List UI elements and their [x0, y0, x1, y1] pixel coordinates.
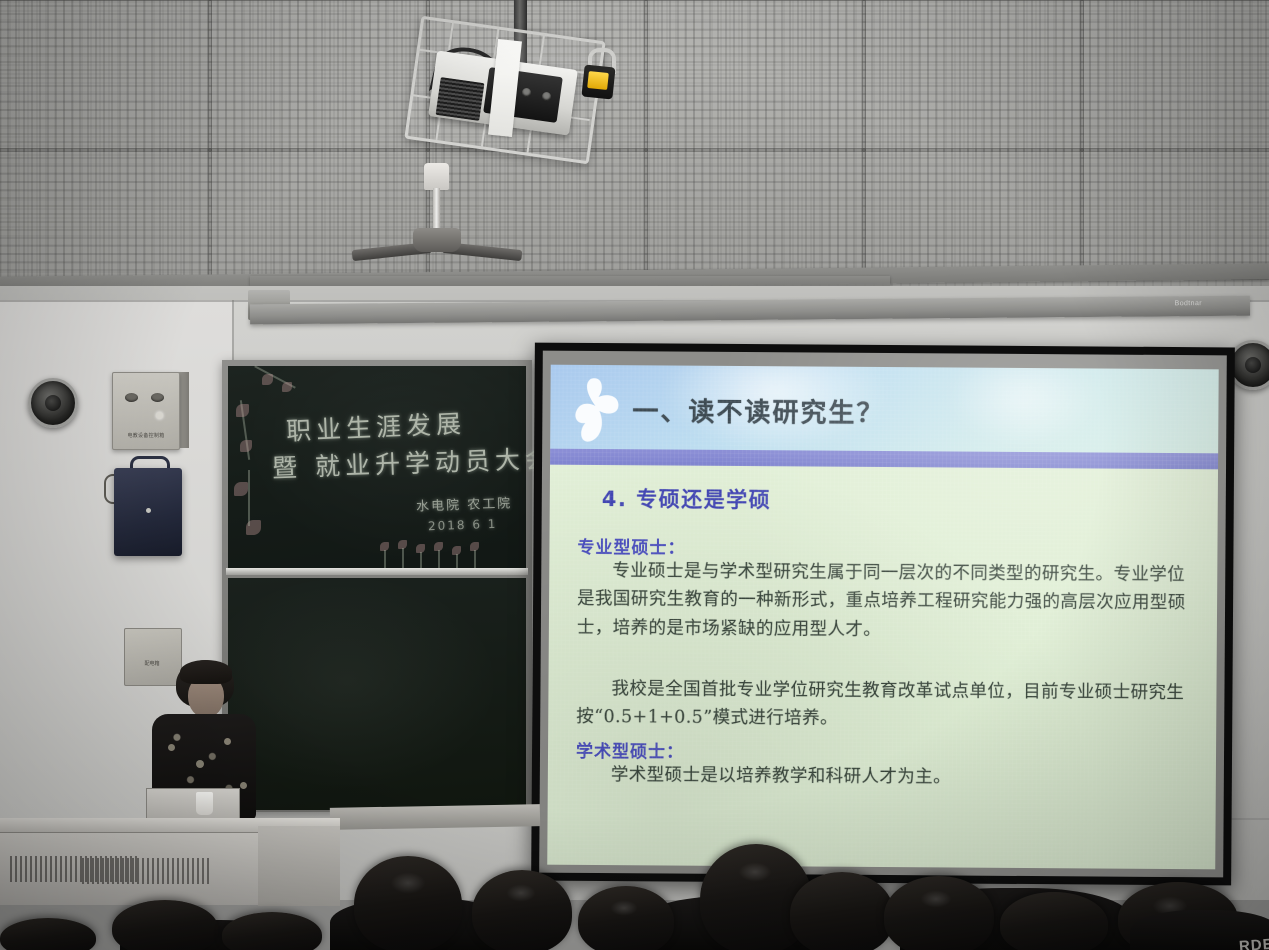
blackboard-lower-panel [228, 578, 526, 810]
ceiling-tile [644, 0, 866, 152]
presenter-hair-front [180, 660, 232, 684]
paper-cup [196, 792, 213, 815]
bench [330, 804, 540, 830]
lecture-hall-photo: Bodtnar 职业生涯发展 暨 就业升学动员大会 水电院 农工院 2018 6… [0, 0, 1269, 950]
hair-highlight [738, 862, 772, 882]
control-box-label: 电教设备控制箱 [118, 432, 174, 439]
chalk-stem [384, 550, 386, 568]
projection-screen[interactable]: 一、读不读研究生？ 4. 专硕还是学硕 专业型硕士： 专业硕士是与学术型研究生属… [531, 343, 1235, 886]
hair-highlight [610, 900, 638, 916]
chalk-stem [402, 548, 404, 568]
ceiling-fan-mount [424, 163, 449, 190]
audience-head [112, 900, 218, 950]
status-led [156, 412, 163, 419]
slide-label-academic: 学术型硕士： [576, 737, 684, 763]
hair-highlight [390, 872, 426, 894]
ceiling-tile [208, 0, 430, 152]
slide-paragraph-professional-2: 我校是全国首批专业学位研究生教育改革试点单位，目前专业硕士研究生按“0.5+1+… [576, 675, 1192, 736]
chalk-stem [456, 554, 458, 568]
blouse-pattern [168, 744, 175, 751]
audience-head [354, 856, 462, 950]
blouse-pattern [224, 738, 231, 745]
ceiling-tile [644, 148, 866, 280]
audience-shoulders: RDE [1130, 910, 1269, 950]
slide-paragraph-professional-1: 专业硕士是与学术型研究生属于同一层次的不同类型的研究生。专业学位是我国研究生教育… [577, 557, 1194, 646]
ceiling-tile [426, 148, 648, 280]
chalk-stem [420, 552, 422, 568]
blackboard-slide-rail [226, 568, 528, 575]
audience-head [0, 918, 96, 950]
projector-knob [542, 92, 551, 101]
ceiling-tile [1080, 0, 1269, 152]
slide-heading: 4. 专硕还是学硕 [602, 483, 772, 514]
blackboard-subtitle: 水电院 农工院 [416, 492, 513, 514]
chalk-stem [474, 550, 476, 568]
electrical-box[interactable] [124, 628, 182, 686]
slide-divider-bar [550, 449, 1218, 470]
audience-head [472, 870, 572, 950]
chalk-stem [248, 470, 250, 526]
ceiling-tile [1080, 148, 1269, 280]
chalk-flower [234, 482, 248, 496]
desk-vent-grille [82, 858, 212, 884]
projector-vent [436, 77, 485, 121]
projector-knob [522, 88, 531, 97]
blouse-pattern [196, 760, 204, 768]
ceiling-beam [250, 276, 890, 286]
powerpoint-slide: 一、读不读研究生？ 4. 专硕还是学硕 专业型硕士： 专业硕士是与学术型研究生属… [547, 365, 1218, 870]
ceiling-tile [862, 0, 1084, 152]
hair-highlight [506, 884, 536, 902]
audience-head [222, 912, 322, 950]
padlock-face [587, 71, 609, 90]
chalk-flower [240, 440, 252, 452]
audience-head [578, 886, 674, 950]
audience-head [790, 872, 894, 950]
blackboard-date: 2018 6 1 [428, 517, 498, 533]
ceiling-tile [862, 148, 1084, 280]
chalk-flower [262, 374, 273, 385]
projector-glare [948, 365, 1099, 447]
desk-side-panel [258, 826, 340, 906]
ceiling-fan-motor [413, 228, 461, 252]
slide-header-band: 一、读不读研究生？ [550, 365, 1219, 466]
projection-screen-surface: 一、读不读研究生？ 4. 专硕还是学硕 专业型硕士： 专业硕士是与学术型研究生属… [539, 351, 1227, 878]
chalk-flower [236, 404, 249, 417]
control-dial[interactable] [125, 393, 138, 402]
audience-head [884, 876, 994, 950]
chalk-stem [438, 550, 440, 568]
slide-label-professional: 专业型硕士： [577, 533, 685, 559]
ceiling-fan-rod [433, 188, 440, 230]
blouse-pattern [240, 782, 247, 789]
audience-head [1000, 892, 1108, 950]
rail-brand-label: Bodtnar [1175, 300, 1202, 307]
hair-highlight [920, 890, 952, 908]
clothing-text: RDE [1239, 936, 1269, 950]
decorative-blob-icon [574, 373, 635, 447]
electrical-box-label: 配电箱 [128, 660, 176, 667]
control-dial[interactable] [151, 393, 164, 402]
wall-speaker-left [28, 378, 78, 428]
ceiling-tile [0, 0, 212, 152]
ceiling-tile [208, 148, 430, 280]
ceiling-tile [0, 148, 212, 280]
chalk-flower [282, 382, 292, 392]
slide-title: 一、读不读研究生？ [632, 391, 884, 430]
bag-button [146, 508, 151, 513]
slide-paragraph-academic-1: 学术型硕士是以培养教学和科研人才为主。 [576, 761, 1192, 794]
